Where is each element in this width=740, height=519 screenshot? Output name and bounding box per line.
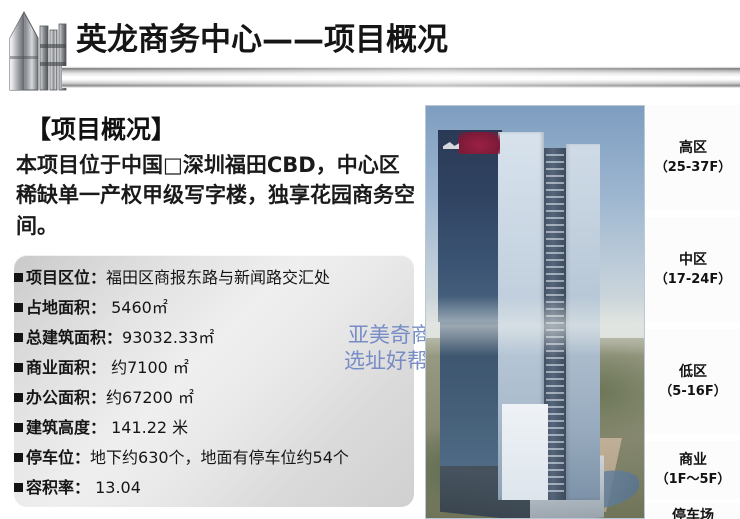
list-item: 总建筑面积：93032.33㎡ bbox=[14, 323, 406, 353]
photo-tower-white-band bbox=[502, 404, 548, 500]
zone-high: 高区 （25-37F） bbox=[646, 105, 740, 210]
list-item: 容积率： 13.04 bbox=[14, 473, 406, 503]
lead-paragraph: 本项目位于中国□深圳福田CBD，中心区稀缺单一产权甲级写字楼，独享花园商务空间。 bbox=[16, 150, 420, 241]
photo-tower-dark-lower bbox=[440, 322, 502, 466]
fact-value: 5460㎡ bbox=[106, 298, 168, 317]
fact-label: 停车位： bbox=[26, 448, 90, 467]
square-bullet-icon bbox=[14, 453, 23, 462]
page-title: 英龙商务中心——项目概况 bbox=[76, 14, 448, 59]
fact-label: 项目区位： bbox=[26, 268, 106, 287]
fact-value: 地下约630个，地面有停车位约54个 bbox=[90, 448, 349, 467]
list-item: 办公面积：约67200 ㎡ bbox=[14, 383, 406, 413]
building-rendering-photo bbox=[425, 105, 645, 519]
zone-range: （1F～5F） bbox=[656, 470, 731, 489]
zone-parking: 停车场 （-1F～-4F） bbox=[646, 503, 740, 519]
zone-name: 停车场 bbox=[672, 507, 714, 519]
zone-name: 高区 bbox=[679, 139, 707, 158]
fact-label: 办公面积： bbox=[26, 388, 106, 407]
square-bullet-icon bbox=[14, 483, 23, 492]
building-logo-icon bbox=[6, 4, 68, 92]
floor-zone-legend: 高区 （25-37F） 中区 （17-24F） 低区 （5-16F） 商业 （1… bbox=[646, 105, 740, 519]
zone-range: （25-37F） bbox=[655, 158, 731, 177]
fact-label: 总建筑面积： bbox=[26, 328, 122, 347]
fact-value: 福田区商报东路与新闻路交汇处 bbox=[106, 268, 330, 287]
zone-commercial: 商业 （1F～5F） bbox=[646, 441, 740, 499]
slide-root: 英龙商务中心——项目概况 【项目概况】 本项目位于中国□深圳福田CBD，中心区稀… bbox=[0, 0, 740, 519]
zone-range: （17-24F） bbox=[655, 270, 731, 289]
photo-tower-dark-upper bbox=[438, 130, 502, 322]
list-item: 商业面积： 约7100 ㎡ bbox=[14, 353, 406, 383]
slide-header: 英龙商务中心——项目概况 bbox=[0, 0, 740, 98]
square-bullet-icon bbox=[14, 303, 23, 312]
fact-label: 商业面积： bbox=[26, 358, 106, 377]
list-item: 建筑高度： 141.22 米 bbox=[14, 413, 406, 443]
square-bullet-icon bbox=[14, 423, 23, 432]
photo-tower-right-glass bbox=[566, 144, 600, 500]
project-facts-list: 项目区位：福田区商报东路与新闻路交汇处 占地面积： 5460㎡ 总建筑面积：93… bbox=[14, 263, 406, 503]
list-item: 项目区位：福田区商报东路与新闻路交汇处 bbox=[14, 263, 406, 293]
fact-value: 93032.33㎡ bbox=[122, 328, 214, 347]
zone-range: （5-16F） bbox=[659, 382, 726, 401]
zone-mid: 中区 （17-24F） bbox=[646, 217, 740, 322]
header-divider-bar bbox=[62, 66, 740, 88]
square-bullet-icon bbox=[14, 363, 23, 372]
list-item: 停车位：地下约630个，地面有停车位约54个 bbox=[14, 443, 406, 473]
fact-value: 141.22 米 bbox=[106, 418, 188, 437]
fact-value: 约67200 ㎡ bbox=[106, 388, 194, 407]
fact-value: 约7100 ㎡ bbox=[106, 358, 189, 377]
zone-name: 商业 bbox=[679, 451, 707, 470]
zone-low: 低区 （5-16F） bbox=[646, 329, 740, 434]
fact-value: 13.04 bbox=[90, 478, 141, 497]
square-bullet-icon bbox=[14, 393, 23, 402]
square-bullet-icon bbox=[14, 273, 23, 282]
fact-label: 容积率： bbox=[26, 478, 90, 497]
zone-name: 低区 bbox=[679, 363, 707, 382]
fact-label: 占地面积： bbox=[26, 298, 106, 317]
fact-label: 建筑高度： bbox=[26, 418, 106, 437]
section-title: 【项目概况】 bbox=[26, 110, 176, 146]
photo-tower-red-crown bbox=[458, 132, 500, 154]
square-bullet-icon bbox=[14, 333, 23, 342]
zone-name: 中区 bbox=[679, 251, 707, 270]
list-item: 占地面积： 5460㎡ bbox=[14, 293, 406, 323]
